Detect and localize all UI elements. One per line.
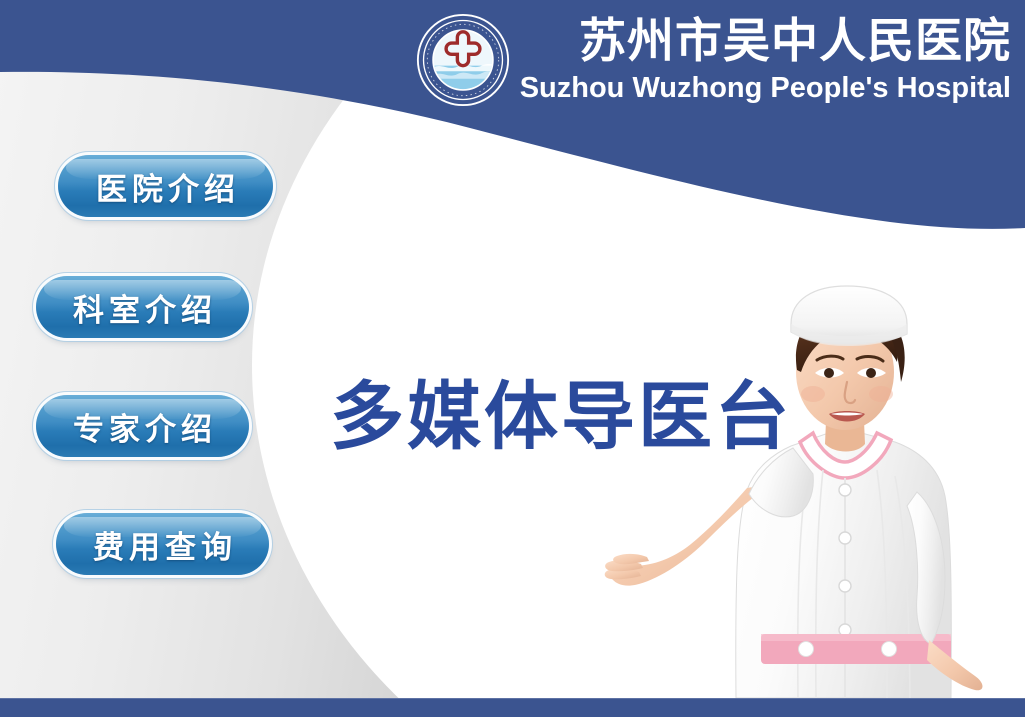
hospital-name-cn: 苏州市吴中人民医院 <box>579 18 1011 65</box>
sidebar-item-label: 科室介绍 <box>68 285 217 330</box>
sidebar-item-department-intro[interactable]: 科室介绍 <box>36 276 249 338</box>
footer-bar <box>0 698 1025 717</box>
page-title: 多媒体导医台 <box>330 357 792 464</box>
hospital-emblem-logo <box>416 13 510 107</box>
sidebar-item-hospital-intro[interactable]: 医院介绍 <box>58 155 273 217</box>
hospital-name-en: Suzhou Wuzhong People's Hospital <box>520 74 1011 103</box>
sidebar-item-label: 费用查询 <box>88 522 237 567</box>
sidebar-navigation: 医院介绍 科室介绍 专家介绍 费用查询 <box>0 0 300 717</box>
sidebar-item-fee-inquiry[interactable]: 费用查询 <box>56 513 269 575</box>
sidebar-item-label: 医院介绍 <box>91 164 240 209</box>
hospital-brand: 苏州市吴中人民医院 Suzhou Wuzhong People's Hospit… <box>520 18 1011 103</box>
sidebar-item-expert-intro[interactable]: 专家介绍 <box>36 395 249 457</box>
sidebar-item-label: 专家介绍 <box>68 404 217 449</box>
kiosk-screen: 苏州市吴中人民医院 Suzhou Wuzhong People's Hospit… <box>0 0 1025 717</box>
